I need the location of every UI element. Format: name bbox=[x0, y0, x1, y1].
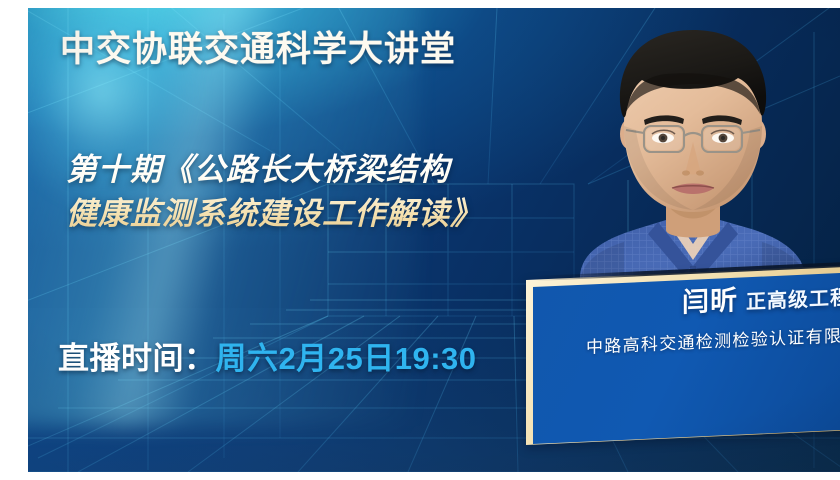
subtitle-line-1: 第十期《公路长大桥梁结构 bbox=[66, 152, 450, 187]
subtitle-line-2: 健康监测系统建设工作解读》 bbox=[66, 196, 482, 231]
speaker-card: 闫昕正高级工程师 中路高科交通检测检验认证有限公司 bbox=[526, 280, 840, 445]
banner-artwork: 中交协联交通科学大讲堂 第十期《公路长大桥梁结构 健康监测系统建设工作解读》 直… bbox=[28, 8, 840, 472]
broadcast-time-value: 周六2月25日19:30 bbox=[216, 341, 477, 376]
page-title: 中交协联交通科学大讲堂 bbox=[60, 32, 456, 69]
speaker-title: 正高级工程师 bbox=[746, 286, 840, 314]
speaker-name: 闫昕 bbox=[682, 285, 738, 318]
broadcast-time: 直播时间：周六2月25日19:30 bbox=[58, 333, 477, 378]
broadcast-time-label: 直播时间： bbox=[58, 341, 216, 376]
poster-root: 中交协联交通科学大讲堂 第十期《公路长大桥梁结构 健康监测系统建设工作解读》 直… bbox=[0, 0, 840, 480]
session-subtitle: 第十期《公路长大桥梁结构 健康监测系统建设工作解读》 bbox=[66, 148, 482, 236]
speaker-card-text: 闫昕正高级工程师 中路高科交通检测检验认证有限公司 bbox=[586, 281, 840, 358]
